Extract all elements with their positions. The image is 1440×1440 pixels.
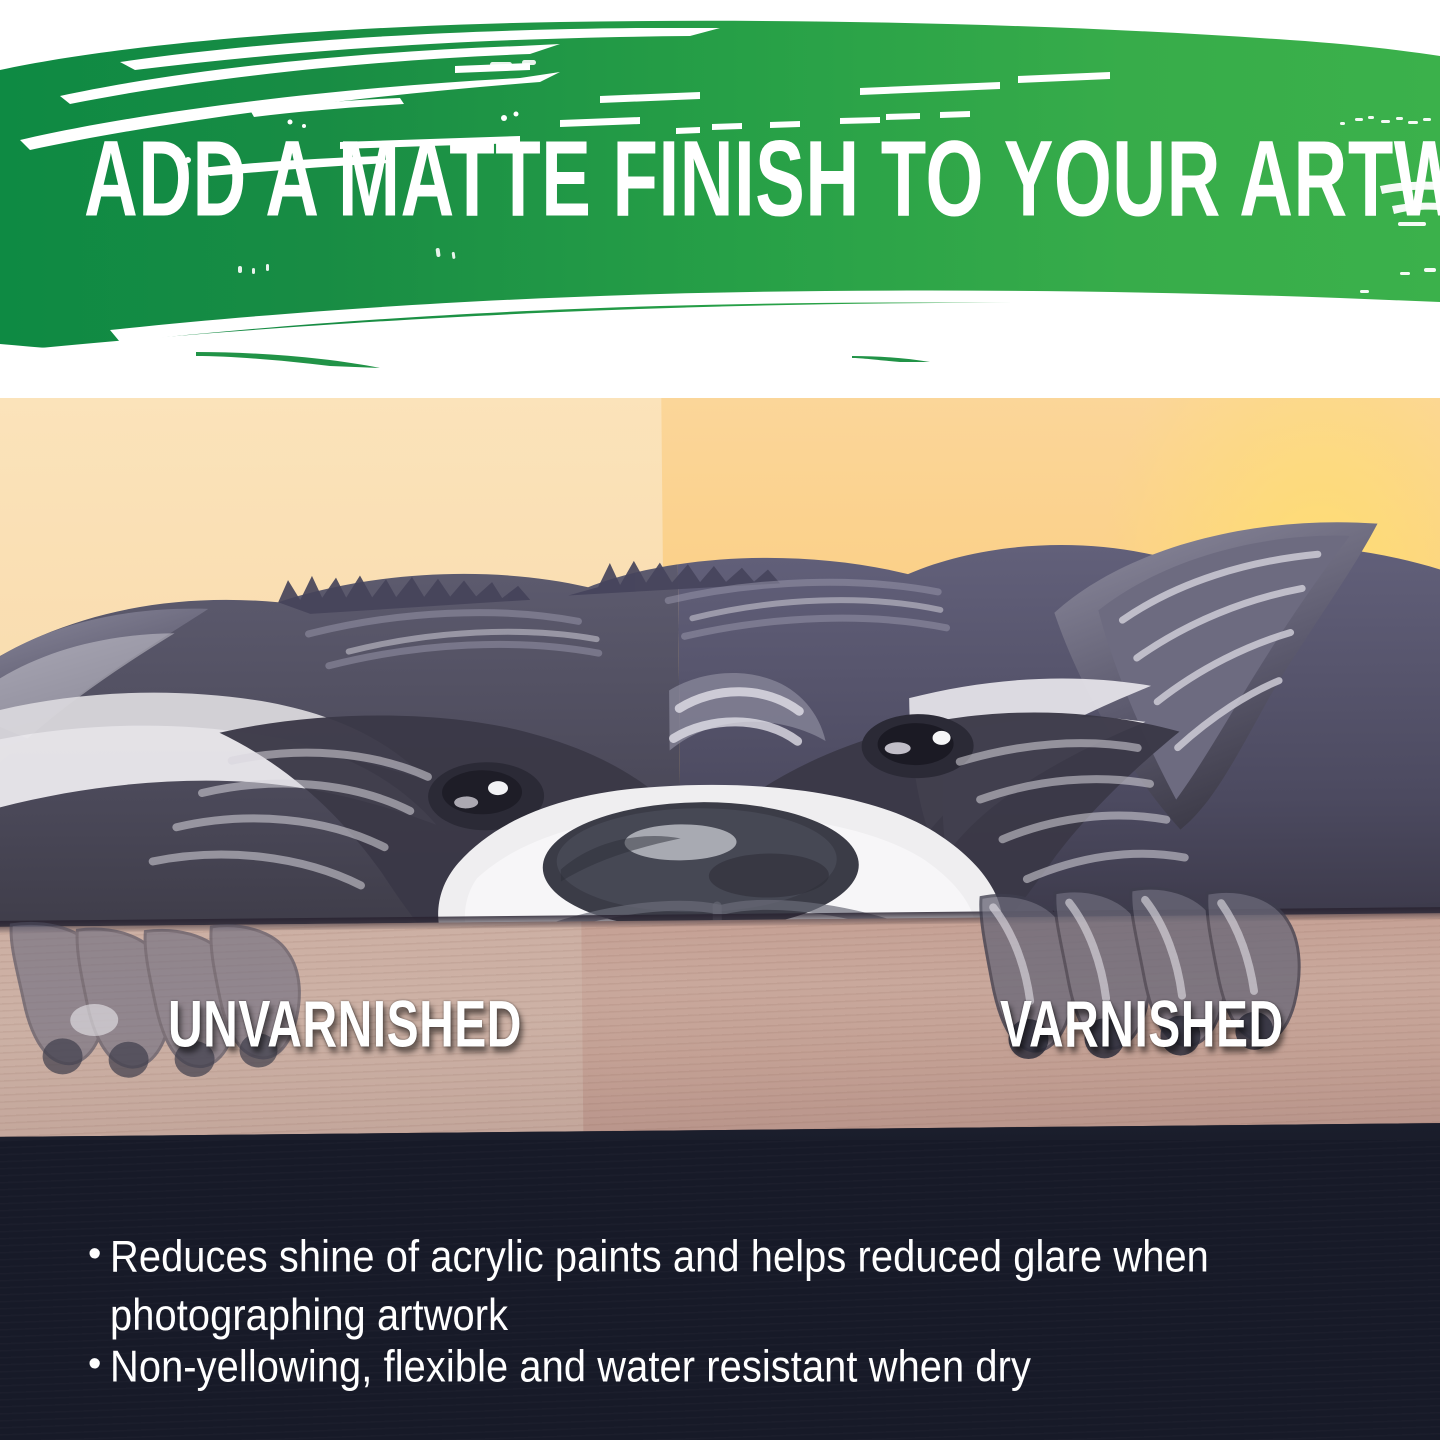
label-varnished: VARNISHED xyxy=(1000,1000,1284,1052)
page-title-text: ADD A MATTE FINISH TO YOUR ARTWORK xyxy=(84,119,1440,241)
header-banner: ADD A MATTE FINISH TO YOUR ARTWORK xyxy=(0,0,1440,400)
list-item: • Non-yellowing, flexible and water resi… xyxy=(88,1338,1378,1390)
page-title: ADD A MATTE FINISH TO YOUR ARTWORK xyxy=(84,126,1374,234)
label-unvarnished: UNVARNISHED xyxy=(168,1000,522,1052)
poster-canvas: ADD A MATTE FINISH TO YOUR ARTWORK xyxy=(0,0,1440,1440)
feature-text: Non-yellowing, flexible and water resist… xyxy=(110,1338,1031,1396)
bullet-marker-icon: • xyxy=(88,1338,110,1390)
list-item: • Reduces shine of acrylic paints and he… xyxy=(88,1228,1378,1332)
product-photo: UNVARNISHED VARNISHED xyxy=(0,398,1440,1158)
feature-bullet-list: • Reduces shine of acrylic paints and he… xyxy=(88,1228,1378,1390)
feature-text: Reduces shine of acrylic paints and help… xyxy=(110,1228,1372,1344)
bullet-marker-icon: • xyxy=(88,1228,110,1280)
